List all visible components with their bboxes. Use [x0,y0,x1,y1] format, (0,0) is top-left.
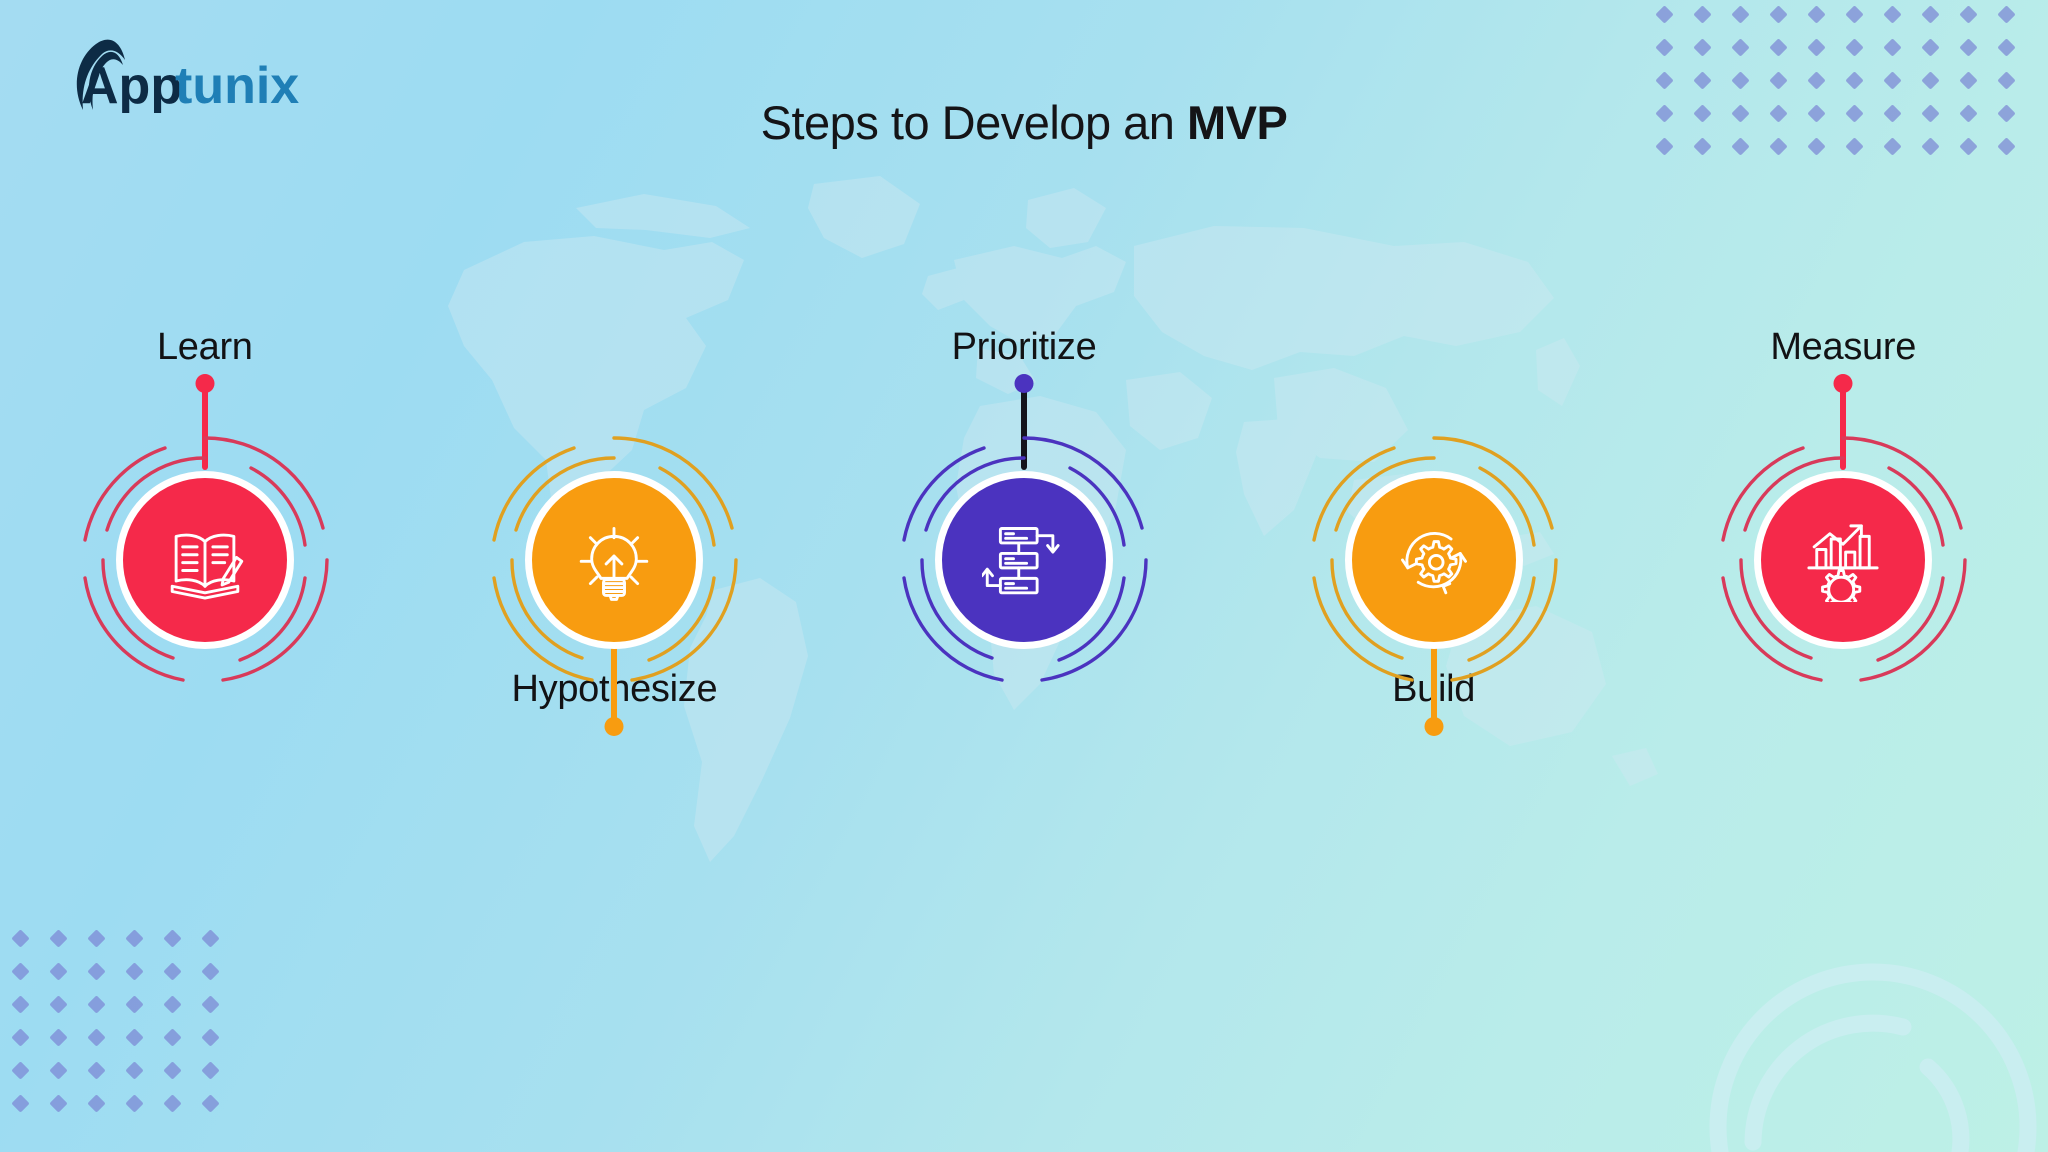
decorative-dot [1921,38,1939,56]
decorative-dot [163,1028,181,1046]
decorative-dot [49,1061,67,1079]
step-hypothesize[interactable]: Hypothesize [464,300,764,920]
decorative-dot [163,1094,181,1112]
decorative-dot [201,1094,219,1112]
decorative-dot [163,1061,181,1079]
step-disc-hypothesize[interactable] [525,471,703,649]
decorative-rings [1658,912,2048,1152]
decorative-dot [1693,5,1711,23]
decorative-dot [49,1028,67,1046]
decorative-dot [1655,5,1673,23]
decorative-dot [1807,38,1825,56]
light-bulb-icon [572,518,656,602]
decorative-dot [201,962,219,980]
gear-refresh-icon [1392,518,1476,602]
decorative-dot [125,1028,143,1046]
step-node-learn[interactable] [55,410,355,710]
step-node-hypothesize[interactable] [464,410,764,710]
decorative-dot [125,995,143,1013]
decorative-dot [87,1094,105,1112]
step-disc-learn[interactable] [116,471,294,649]
decorative-dot [1883,38,1901,56]
connector-knob [1834,374,1853,393]
connector-knob [195,374,214,393]
decorative-dot [163,962,181,980]
decorative-dot [87,1061,105,1079]
decorative-dot [1997,38,2015,56]
decorative-dot [11,1028,29,1046]
decorative-dot [1807,71,1825,89]
decorative-dot [1845,5,1863,23]
decorative-dot [1845,71,1863,89]
connector-knob [605,717,624,736]
decorative-dot [201,1028,219,1046]
step-node-measure[interactable] [1693,410,1993,710]
step-label-prioritize: Prioritize [874,326,1174,369]
decorative-dot [1693,71,1711,89]
step-disc-measure[interactable] [1754,471,1932,649]
decorative-dot [1693,38,1711,56]
decorative-dot [1731,5,1749,23]
decorative-dot [1807,5,1825,23]
decorative-dot [1959,38,1977,56]
step-disc-build[interactable] [1345,471,1523,649]
title-bold: MVP [1187,96,1287,149]
page-title: Steps to Develop an MVP [0,95,2048,150]
step-prioritize[interactable]: Prioritize [874,300,1174,920]
decorative-dot [1655,71,1673,89]
decorative-dot [1883,71,1901,89]
title-regular: Steps to Develop an [761,96,1187,149]
decorative-dot [125,929,143,947]
decorative-dot [1997,5,2015,23]
decorative-dot [201,929,219,947]
decorative-dot [1769,71,1787,89]
decorative-dot [1769,5,1787,23]
decorative-dot [11,1061,29,1079]
step-disc-prioritize[interactable] [935,471,1113,649]
step-node-build[interactable] [1284,410,1584,710]
steps-row: Learn Hypothesize [0,300,2048,920]
decorative-dot [201,1061,219,1079]
decorative-dot [87,1028,105,1046]
decorative-dot [49,1094,67,1112]
decorative-dot [1731,38,1749,56]
connector-knob [1015,374,1034,393]
decorative-dot [87,962,105,980]
infographic-canvas: App tunix Steps to Develop an MVP Learn [0,0,2048,1152]
decorative-dot [1959,5,1977,23]
decorative-dot [1655,38,1673,56]
decorative-dot [49,995,67,1013]
decorative-dot [1883,5,1901,23]
decorative-dot [87,995,105,1013]
decorative-dot [1845,38,1863,56]
decorative-dot [125,1061,143,1079]
step-label-learn: Learn [55,326,355,369]
decorative-dot [163,995,181,1013]
decorative-dot [125,962,143,980]
decorative-dot [11,995,29,1013]
decorative-dot [49,962,67,980]
decorative-dot [163,929,181,947]
decorative-dot [11,929,29,947]
decorative-dot [1959,71,1977,89]
step-build[interactable]: Build [1284,300,1584,920]
decorative-dot [1769,38,1787,56]
open-book-pencil-icon [163,518,247,602]
decorative-dot [201,995,219,1013]
bar-chart-gear-icon [1801,518,1885,602]
decorative-dot [87,929,105,947]
step-learn[interactable]: Learn [55,300,355,920]
decorative-dot [1731,71,1749,89]
step-label-measure: Measure [1693,326,1993,369]
decorative-dot [11,1094,29,1112]
diamond-dot-grid-bottom-left [14,932,244,1122]
step-node-prioritize[interactable] [874,410,1174,710]
connector-knob [1424,717,1443,736]
decorative-dot [11,962,29,980]
decorative-dot [125,1094,143,1112]
decorative-dot [1921,5,1939,23]
decorative-dot [49,929,67,947]
decorative-dot [1921,71,1939,89]
step-measure[interactable]: Measure [1693,300,1993,920]
flowchart-icon [982,518,1066,602]
decorative-dot [1997,71,2015,89]
